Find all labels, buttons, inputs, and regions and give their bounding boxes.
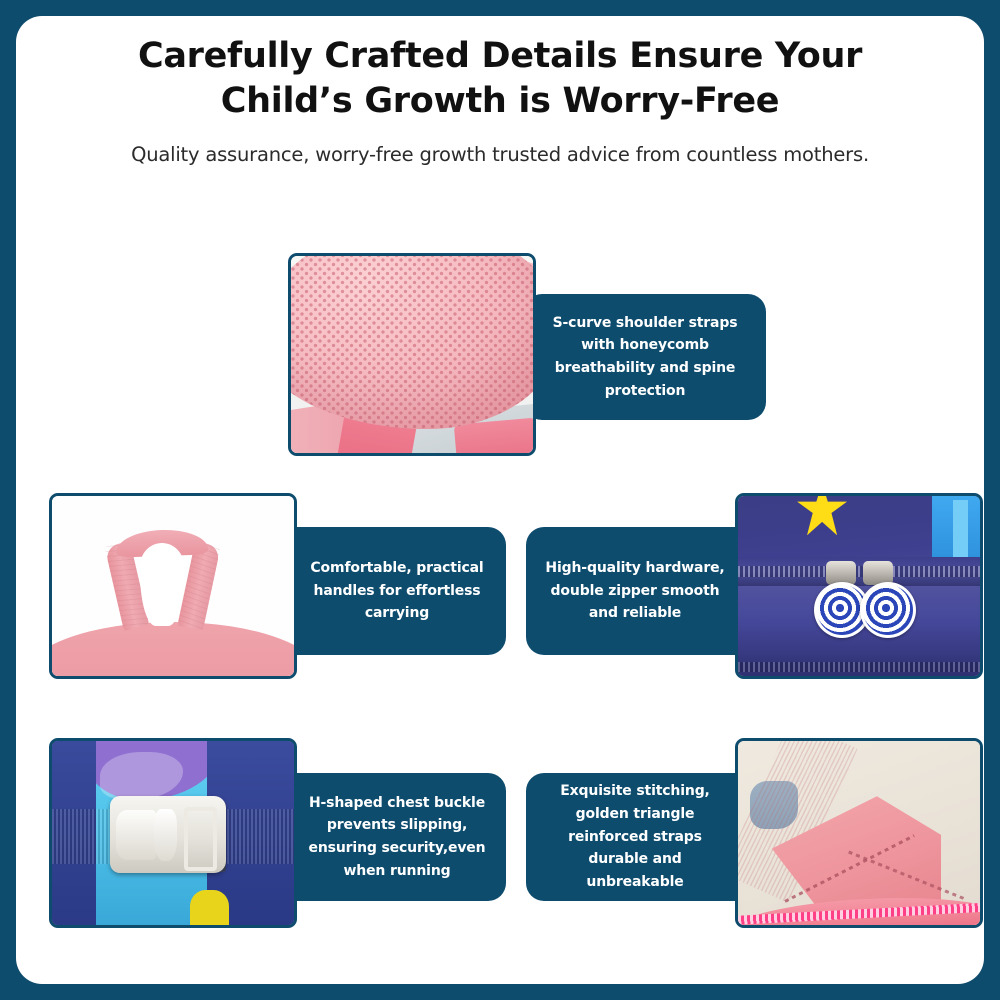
content-panel: Carefully Crafted Details Ensure Your Ch…	[16, 16, 984, 984]
handle-inner-gap	[140, 543, 184, 626]
caption-text: H-shaped chest buckle prevents slipping,…	[304, 792, 490, 883]
stitching-photo	[738, 741, 980, 925]
feature-image-shoulder-straps	[288, 253, 536, 456]
page-header: Carefully Crafted Details Ensure Your Ch…	[16, 16, 984, 169]
zipper-teeth-lower	[738, 662, 980, 673]
feature-caption-shoulder-straps: S-curve shoulder straps with honeycomb b…	[524, 294, 766, 420]
feature-image-chest-buckle	[49, 738, 297, 928]
feature-caption-chest-buckle: H-shaped chest buckle prevents slipping,…	[288, 773, 506, 901]
buckle-body	[110, 796, 226, 873]
feature-caption-stitching: Exquisite stitching, golden triangle rei…	[526, 773, 744, 901]
feature-caption-zipper: High-quality hardware, double zipper smo…	[526, 527, 744, 655]
yellow-accent-shape	[190, 890, 229, 928]
page-title: Carefully Crafted Details Ensure Your Ch…	[86, 34, 914, 124]
caption-text: Exquisite stitching, golden triangle rei…	[542, 780, 728, 893]
zipper-pull-right	[860, 582, 916, 638]
handle-photo	[52, 496, 294, 676]
mesh-strap-photo	[291, 256, 533, 453]
feature-caption-handles: Comfortable, practical handles for effor…	[288, 527, 506, 655]
zipper-slider-left	[826, 561, 856, 585]
zipper-photo	[738, 496, 980, 676]
honeycomb-texture	[288, 253, 536, 429]
buckle-prong	[154, 809, 177, 862]
zipper-slider-right	[863, 561, 893, 585]
feature-image-stitching	[735, 738, 983, 928]
caption-text: Comfortable, practical handles for effor…	[304, 557, 490, 625]
buckle-photo	[52, 741, 294, 925]
page-subtitle: Quality assurance, worry-free growth tru…	[86, 140, 914, 169]
page-frame: Carefully Crafted Details Ensure Your Ch…	[0, 0, 1000, 1000]
caption-text: S-curve shoulder straps with honeycomb b…	[540, 312, 750, 403]
light-blue-stripe	[953, 500, 968, 558]
feature-image-handles	[49, 493, 297, 679]
caption-text: High-quality hardware, double zipper smo…	[542, 557, 728, 625]
zipper-teeth	[738, 566, 980, 577]
feature-image-zipper	[735, 493, 983, 679]
